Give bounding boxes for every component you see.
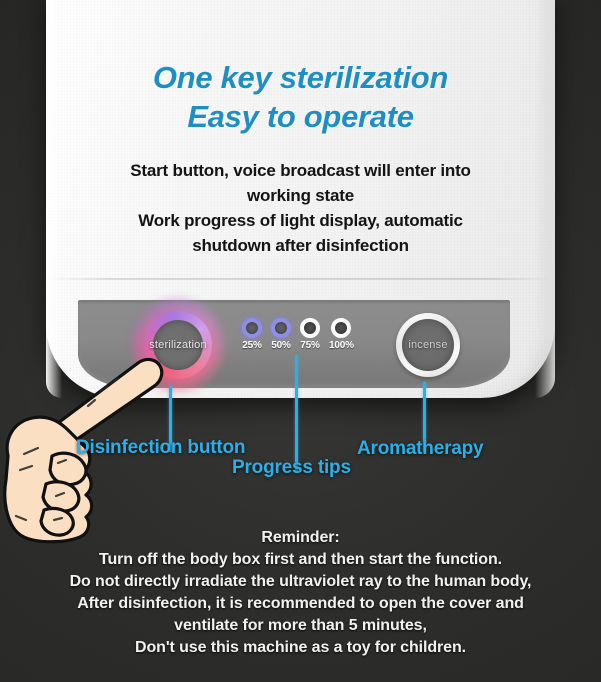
product-infographic: One key sterilization Easy to operate St…: [0, 0, 601, 682]
reminder-line-1: Turn off the body box first and then sta…: [0, 549, 601, 571]
progress-ring-icon: [242, 318, 262, 338]
progress-step-label: 50%: [271, 340, 290, 351]
progress-indicator-group: 25% 50% 75% 100%: [242, 318, 354, 351]
reminder-line-3: After disinfection, it is recommended to…: [0, 593, 601, 615]
device-lid-seam: [50, 278, 551, 280]
progress-step[interactable]: 50%: [271, 318, 291, 351]
page-title: One key sterilization Easy to operate: [0, 58, 601, 136]
subtitle-line-3: Work progress of light display, automati…: [0, 208, 601, 233]
progress-ring-icon: [300, 318, 320, 338]
aromatherapy-button-label: incense: [402, 319, 454, 371]
subtitle-line-2: working state: [0, 183, 601, 208]
callout-progress-tips: Progress tips: [232, 457, 351, 479]
progress-ring-icon: [331, 318, 351, 338]
disinfection-button[interactable]: sterilization: [144, 311, 212, 379]
progress-step-label: 75%: [300, 340, 319, 351]
reminder-line-5: Don't use this machine as a toy for chil…: [0, 637, 601, 659]
callout-aromatherapy: Aromatherapy: [357, 438, 483, 460]
reminder-title: Reminder:: [0, 527, 601, 549]
subtitle-block: Start button, voice broadcast will enter…: [0, 158, 601, 258]
reminder-line-4: ventilate for more than 5 minutes,: [0, 615, 601, 637]
leader-line-progress: [295, 355, 298, 472]
progress-step[interactable]: 75%: [300, 318, 320, 351]
headline-line-2: Easy to operate: [0, 97, 601, 136]
subtitle-line-4: shutdown after disinfection: [0, 233, 601, 258]
progress-step[interactable]: 25%: [242, 318, 262, 351]
callout-disinfection-button: Disinfection button: [76, 437, 245, 459]
progress-step-label: 100%: [329, 340, 354, 351]
disinfection-button-label: sterilization: [144, 311, 212, 379]
progress-ring-icon: [271, 318, 291, 338]
reminder-block: Reminder: Turn off the body box first an…: [0, 527, 601, 659]
headline-line-1: One key sterilization: [0, 58, 601, 97]
progress-step-label: 25%: [242, 340, 261, 351]
subtitle-line-1: Start button, voice broadcast will enter…: [0, 158, 601, 183]
progress-step[interactable]: 100%: [329, 318, 354, 351]
reminder-line-2: Do not directly irradiate the ultraviole…: [0, 571, 601, 593]
aromatherapy-button[interactable]: incense: [396, 313, 460, 377]
